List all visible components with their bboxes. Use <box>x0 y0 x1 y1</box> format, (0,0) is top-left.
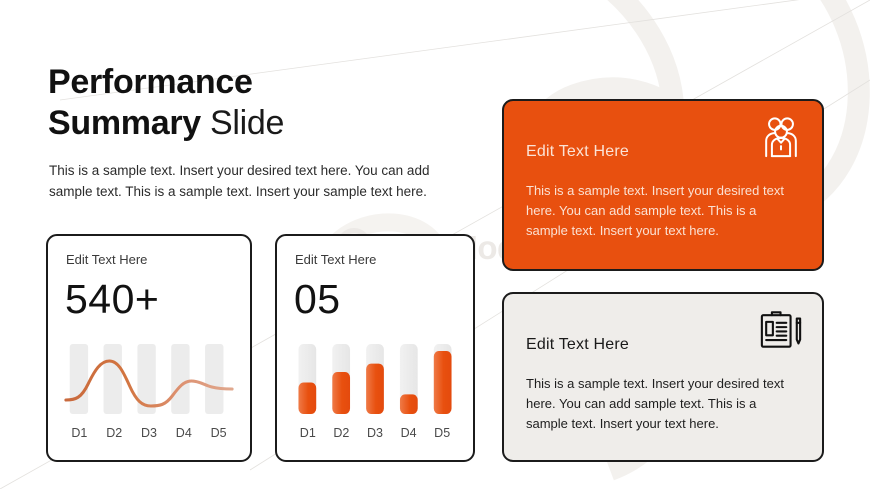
bar-fill <box>434 351 452 414</box>
line-chart-axis-labels: D1 D2 D3 D4 D5 <box>62 426 236 440</box>
text-card-gray-body: This is a sample text. Insert your desir… <box>526 374 794 434</box>
bar-fill <box>400 394 418 414</box>
axis-label: D5 <box>201 426 236 440</box>
axis-label: D2 <box>325 426 359 440</box>
title-line-1: Performance <box>48 63 253 101</box>
stat-card-line-heading: Edit Text Here <box>66 252 147 267</box>
title-line-2-bold: Summary <box>48 104 201 142</box>
axis-label: D1 <box>62 426 97 440</box>
presentation-slide: SlideModel.com Performance Summary Slide… <box>0 0 870 489</box>
axis-label: D4 <box>166 426 201 440</box>
axis-label: D3 <box>132 426 167 440</box>
bar-chart-axis-labels: D1 D2 D3 D4 D5 <box>291 426 459 440</box>
page-title: Performance Summary Slide <box>48 62 284 144</box>
bar-fill <box>298 383 316 415</box>
text-card-orange-body: This is a sample text. Insert your desir… <box>526 181 794 241</box>
text-card-gray[interactable]: Edit Text Here This is a sample text. In… <box>502 292 824 462</box>
axis-label: D4 <box>392 426 426 440</box>
bar-chart <box>291 344 459 421</box>
axis-label: D3 <box>358 426 392 440</box>
group-people-icon <box>758 115 804 159</box>
axis-label: D1 <box>291 426 325 440</box>
stat-card-bar-value: 05 <box>294 276 341 323</box>
bar-fill <box>332 372 350 414</box>
bar-fill <box>366 364 384 414</box>
line-chart <box>62 344 236 421</box>
axis-label: D5 <box>425 426 459 440</box>
stat-card-line-value: 540+ <box>65 276 159 323</box>
stat-card-line[interactable]: Edit Text Here 540+ <box>46 234 252 462</box>
text-card-gray-heading: Edit Text Here <box>526 336 629 354</box>
text-card-orange-heading: Edit Text Here <box>526 143 629 161</box>
stat-card-bar-heading: Edit Text Here <box>295 252 376 267</box>
axis-label: D2 <box>97 426 132 440</box>
line-chart-track-bars <box>70 344 224 414</box>
text-card-orange[interactable]: Edit Text Here This is a sample text. In… <box>502 99 824 271</box>
clipboard-pencil-icon <box>758 308 804 352</box>
intro-paragraph: This is a sample text. Insert your desir… <box>49 160 453 202</box>
title-line-2-light: Slide <box>210 104 284 142</box>
stat-card-bar[interactable]: Edit Text Here 05 <box>275 234 475 462</box>
